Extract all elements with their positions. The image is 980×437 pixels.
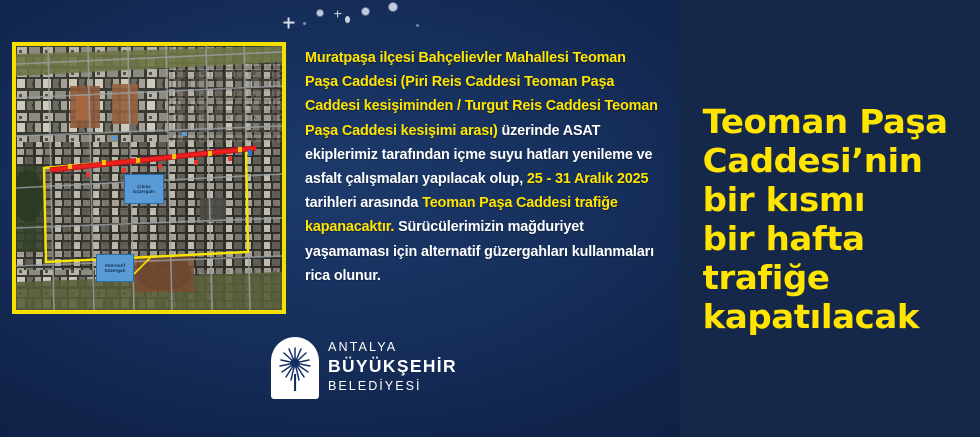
headline-line-3: bir hafta — [703, 219, 948, 258]
copy-segment-3: tarihleri arasında — [305, 195, 422, 211]
antalya-municipality-logo: ANTALYA BÜYÜKŞEHİR BELEDİYESİ — [271, 337, 457, 399]
logo-line-belediyesi: BELEDİYESİ — [328, 380, 457, 393]
map-label-line2: Güzergahı — [133, 189, 155, 194]
logo-line-antalya: ANTALYA — [328, 341, 457, 354]
sparkle-icon — [334, 10, 341, 17]
headline-panel: Teoman PaşaCaddesi’ninbir kısmıbir hafta… — [680, 0, 980, 437]
logo-wordmark: ANTALYA BÜYÜKŞEHİR BELEDİYESİ — [328, 341, 457, 395]
map-label-alternatif: Alternatif Güzergah — [96, 254, 134, 282]
headline-text: Teoman PaşaCaddesi’ninbir kısmıbir hafta… — [680, 102, 962, 336]
sparkle-icon — [362, 8, 369, 15]
copy-segment-0: Muratpaşa ilçesi Bahçelievler Mahallesi … — [305, 50, 658, 139]
sparkle-icon — [389, 3, 397, 11]
map-figure[interactable]: Çıkma Güzergahı Alternatif Güzergah — [12, 42, 286, 314]
announcement-poster: Çıkma Güzergahı Alternatif Güzergah Mura… — [0, 0, 980, 437]
logo-line-buyuksehir: BÜYÜKŞEHİR — [328, 358, 457, 375]
map-label-cikma: Çıkma Güzergahı — [124, 174, 164, 204]
headline-line-5: kapatılacak — [703, 297, 948, 336]
map-label-line2: Güzergah — [105, 268, 126, 273]
headline-line-1: Caddesi’nin — [703, 141, 948, 180]
headline-line-4: trafiğe — [703, 258, 948, 297]
sparkle-icon — [345, 16, 350, 23]
announcement-paragraph: Muratpaşa ilçesi Bahçelievler Mahallesi … — [305, 46, 661, 288]
headline-line-0: Teoman Paşa — [703, 102, 948, 141]
sparkle-icon — [317, 10, 323, 16]
sparkle-icon — [303, 22, 306, 25]
sparkle-icon — [283, 17, 294, 28]
announcement-body: Muratpaşa ilçesi Bahçelievler Mahallesi … — [305, 46, 661, 288]
sparkle-icon — [416, 24, 419, 27]
headline-line-2: bir kısmı — [703, 180, 948, 219]
sunburst-logo-icon — [271, 337, 319, 399]
copy-segment-2: 25 - 31 Aralık 2025 — [527, 171, 648, 187]
